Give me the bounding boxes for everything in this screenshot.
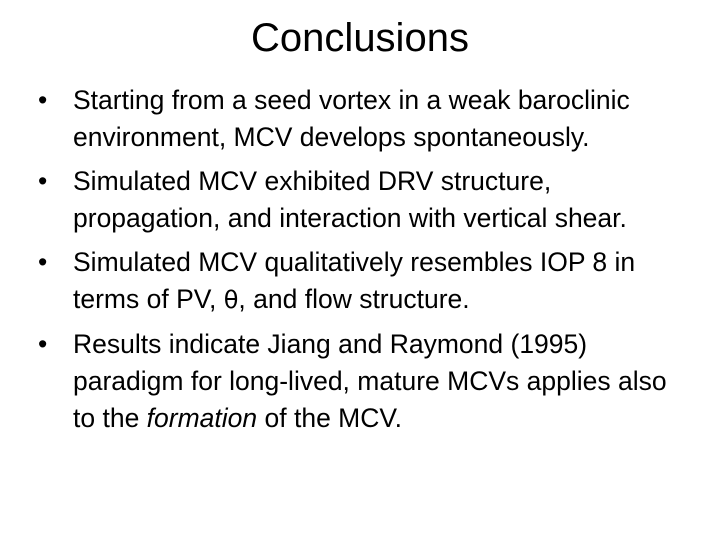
list-item: • Simulated MCV exhibited DRV structure,… [32, 163, 692, 237]
list-item-text: Simulated MCV qualitatively resembles IO… [73, 244, 692, 319]
bullet-dot-icon: • [38, 82, 58, 119]
bullet-dot-icon: • [38, 326, 58, 363]
page-title: Conclusions [0, 14, 720, 62]
list-item-text: Simulated MCV exhibited DRV structure, p… [73, 163, 692, 237]
list-item-text-after: , and flow structure. [238, 284, 469, 314]
conclusions-bullet-list: • Starting from a seed vortex in a weak … [32, 82, 692, 444]
bullet-dot-icon: • [38, 244, 58, 281]
list-item-text-after: of the MCV. [257, 403, 402, 433]
list-item-text: Starting from a seed vortex in a weak ba… [73, 82, 692, 156]
slide-canvas: Conclusions • Starting from a seed vorte… [0, 0, 720, 540]
list-item-text: Results indicate Jiang and Raymond (1995… [73, 326, 692, 437]
bullet-dot-icon: • [38, 163, 58, 200]
theta-symbol: θ [224, 286, 239, 314]
emphasized-word: formation [147, 403, 257, 433]
list-item: • Starting from a seed vortex in a weak … [32, 82, 692, 156]
list-item: • Simulated MCV qualitatively resembles … [32, 244, 692, 319]
list-item: • Results indicate Jiang and Raymond (19… [32, 326, 692, 437]
